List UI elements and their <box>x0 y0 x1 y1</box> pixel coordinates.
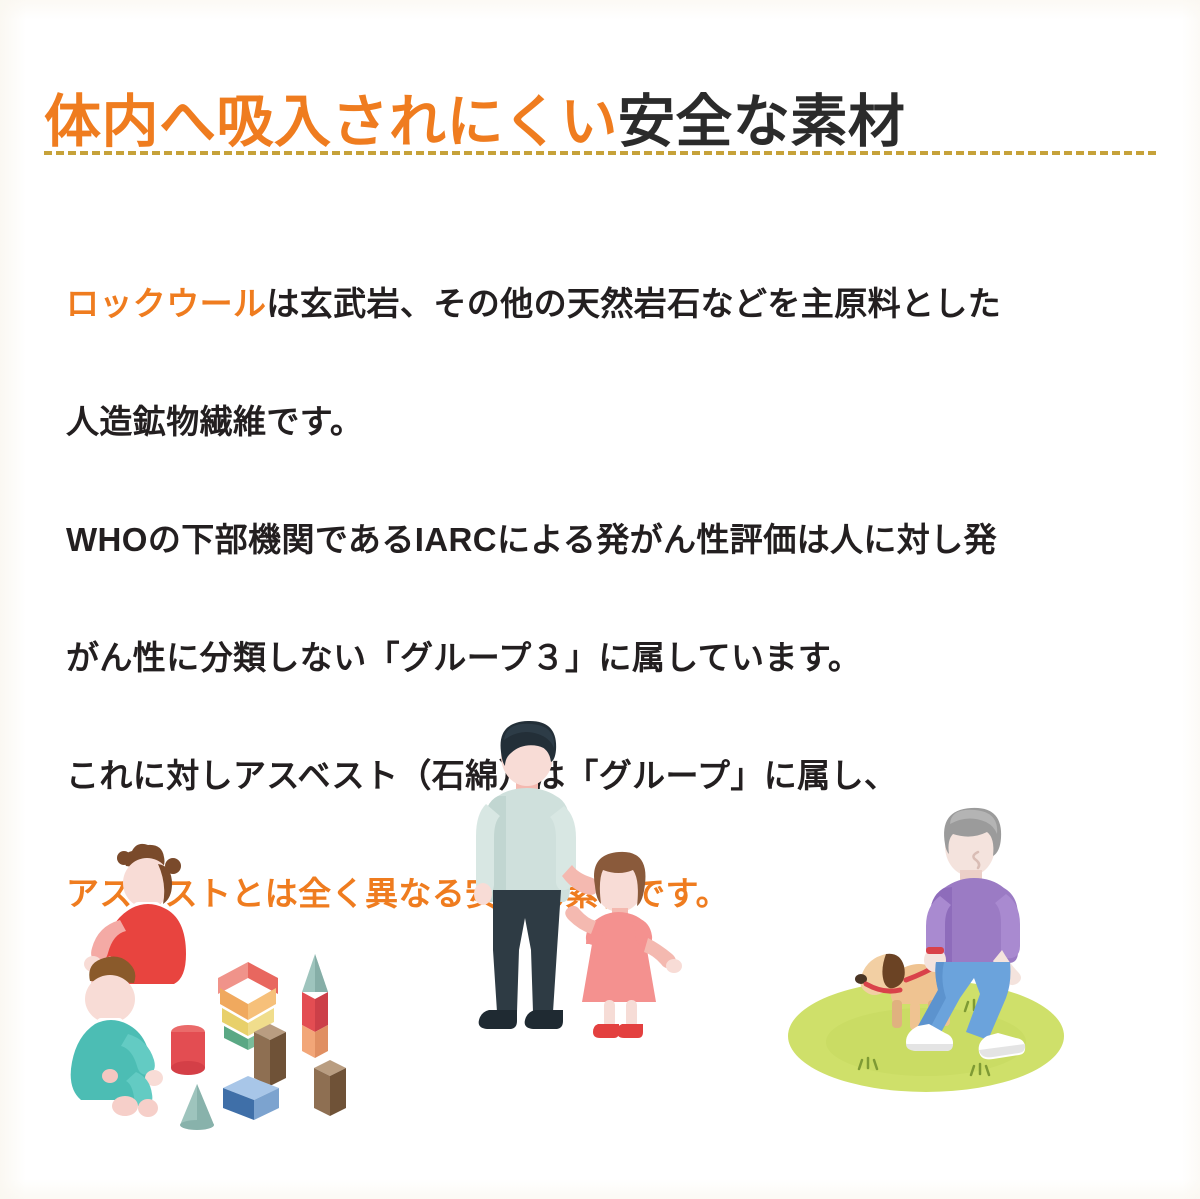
illustration-children-playing <box>62 836 362 1126</box>
copy-line-4: がん性に分類しない「グループ３」に属しています。 <box>66 615 1146 700</box>
toy-red-cylinder <box>171 1025 205 1075</box>
copy-line-1: ロックウールは玄武岩、その他の天然岩石などを主原料とした <box>66 261 1146 346</box>
page-title: 体内へ吸入されにくい安全な素材 <box>44 90 905 156</box>
heading-divider <box>44 151 1156 155</box>
copy-line-1-rest: は玄武岩、その他の天然岩石などを主原料とした <box>266 285 1001 322</box>
page-root: 体内へ吸入されにくい安全な素材 ロックウールは玄武岩、その他の天然岩石などを主原… <box>0 0 1200 1199</box>
illustration-band <box>0 718 1200 1138</box>
copy-line-1-emphasis: ロックウール <box>66 285 266 322</box>
page-title-rest: 安全な素材 <box>618 90 906 154</box>
toy-tower-with-cone <box>302 954 328 1058</box>
illustration-senior-dog-walk <box>778 804 1078 1104</box>
page-title-highlight: 体内へ吸入されにくい <box>44 90 618 154</box>
toy-brown-block-tall <box>254 1024 286 1086</box>
copy-line-3: WHOの下部機関であるIARCによる発がん性評価は人に対し発 <box>66 497 1146 582</box>
copy-line-2: 人造鉱物繊維です。 <box>66 379 1146 464</box>
toy-brown-block-short <box>314 1060 346 1116</box>
figure-father <box>474 721 598 1029</box>
illustration-father-daughter <box>452 718 692 1048</box>
toy-teal-cone <box>180 1084 214 1130</box>
